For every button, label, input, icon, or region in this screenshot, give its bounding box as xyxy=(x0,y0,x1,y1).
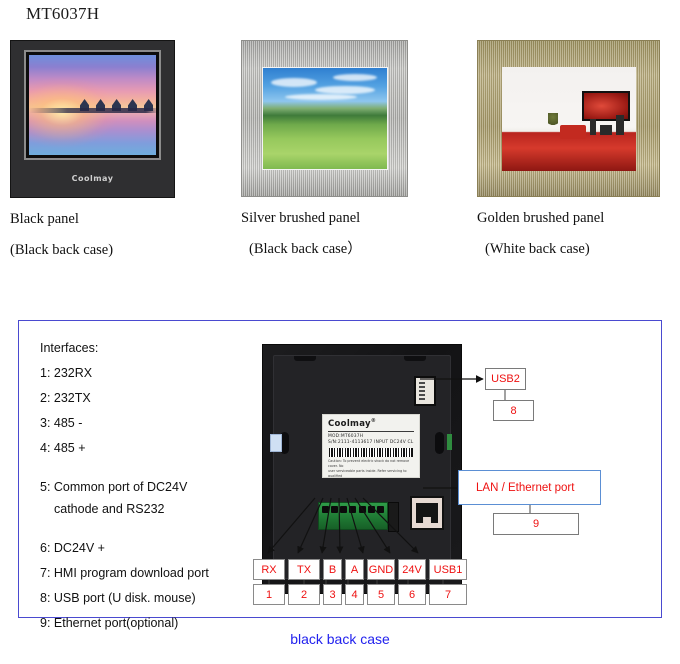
terminal-number-1: 1 xyxy=(253,584,285,605)
caption-black-panel: Black panel xyxy=(10,212,175,227)
label-warning-2: user serviceable parts inside. Refer ser… xyxy=(328,469,414,478)
interface-item-6: 6: DC24V + xyxy=(40,541,270,555)
terminal-block-tab xyxy=(388,502,399,532)
terminal-number-2: 2 xyxy=(288,584,320,605)
terminal-label-rx: RX xyxy=(253,559,285,580)
interfaces-list: Interfaces: 1: 232RX 2: 232TX 3: 485 - 4… xyxy=(40,341,270,641)
callout-lan-label: LAN / Ethernet port xyxy=(458,470,601,505)
rj45-ethernet-jack xyxy=(410,496,444,530)
terminal-label-usb1: USB1 xyxy=(429,559,467,580)
interface-item-2: 2: 232TX xyxy=(40,391,270,405)
interface-item-8: 8: USB port (U disk. mouse) xyxy=(40,591,270,605)
interface-item-5-cont: cathode and RS232 xyxy=(40,502,270,516)
screen-image-sunset xyxy=(29,55,156,155)
golden-brushed-panel-photo xyxy=(477,40,660,197)
usb-a-port xyxy=(414,376,436,406)
label-model: MOD:MT6037H xyxy=(328,434,419,439)
screen-bungalows xyxy=(80,99,154,111)
device-spec-label: Coolmay® MOD:MT6037H S/N:2111-4113617 IN… xyxy=(322,414,420,478)
bottom-caption: black back case xyxy=(0,631,680,647)
interface-item-7: 7: HMI program download port xyxy=(40,566,270,580)
caption-golden-panel-sub: (White back case) xyxy=(477,242,660,257)
terminal-label-a: A xyxy=(345,559,364,580)
interfaces-heading: Interfaces: xyxy=(40,341,270,355)
label-warning-1: Caution: To prevent electric shock do no… xyxy=(328,459,414,469)
green-terminal-block xyxy=(318,502,388,530)
callout-usb2-number: 8 xyxy=(493,400,534,421)
page-title: MT6037H xyxy=(26,4,99,24)
callout-usb2-label: USB2 xyxy=(485,368,526,390)
black-panel-photo: Coolmay xyxy=(10,40,175,198)
caption-silver-panel: Silver brushed panel xyxy=(241,211,408,226)
terminal-number-5: 5 xyxy=(367,584,395,605)
terminal-number-3: 3 xyxy=(323,584,342,605)
interface-item-9: 9: Ethernet port(optional) xyxy=(40,616,270,630)
silver-brushed-panel-photo xyxy=(241,40,408,197)
product-column-golden-panel: Golden brushed panel (White back case) xyxy=(477,40,660,256)
interface-item-3: 3: 485 - xyxy=(40,416,270,430)
terminal-number-6: 6 xyxy=(398,584,426,605)
terminal-callout-number-row: 1234567 xyxy=(253,584,470,605)
callout-lan-number: 9 xyxy=(493,513,579,535)
caption-silver-panel-sub: (Black back case） xyxy=(241,242,408,257)
product-column-black-panel: Coolmay Black panel (Black back case) xyxy=(10,40,175,257)
interface-item-5-text: 5: Common port of DC24V xyxy=(40,480,187,494)
label-brand: Coolmay® xyxy=(328,418,419,429)
screen-image-meadow xyxy=(262,67,388,170)
label-barcode xyxy=(329,448,413,457)
blue-sticker xyxy=(270,434,282,452)
terminal-label-gnd: GND xyxy=(367,559,395,580)
panel-bezel xyxy=(24,50,161,160)
terminal-label-24v: 24V xyxy=(398,559,426,580)
coolmay-brand-text: Coolmay xyxy=(72,174,114,183)
device-back-plate: Coolmay® MOD:MT6037H S/N:2111-4113617 IN… xyxy=(273,355,451,579)
interface-item-1: 1: 232RX xyxy=(40,366,270,380)
screen-plant xyxy=(548,113,558,127)
screen-image-living-room xyxy=(502,67,636,171)
terminal-number-4: 4 xyxy=(345,584,364,605)
product-column-silver-panel: Silver brushed panel (Black back case） xyxy=(241,40,408,256)
device-back-case-photo: Coolmay® MOD:MT6037H S/N:2111-4113617 IN… xyxy=(262,344,462,594)
caption-black-panel-sub: (Black back case) xyxy=(10,243,175,258)
terminal-number-7: 7 xyxy=(429,584,467,605)
terminal-label-b: B xyxy=(323,559,342,580)
terminal-callout-label-row: RXTXBAGND24VUSB1 xyxy=(253,559,470,580)
interface-item-5: 5: Common port of DC24V cathode and RS23… xyxy=(40,466,270,530)
green-sticker xyxy=(447,434,452,450)
terminal-label-tx: TX xyxy=(288,559,320,580)
interface-item-4: 4: 485 + xyxy=(40,441,270,455)
label-serial: S/N:2111-4113617 INPUT DC24V CL xyxy=(328,440,419,445)
caption-golden-panel: Golden brushed panel xyxy=(477,211,660,226)
screen-sofa xyxy=(560,125,586,139)
